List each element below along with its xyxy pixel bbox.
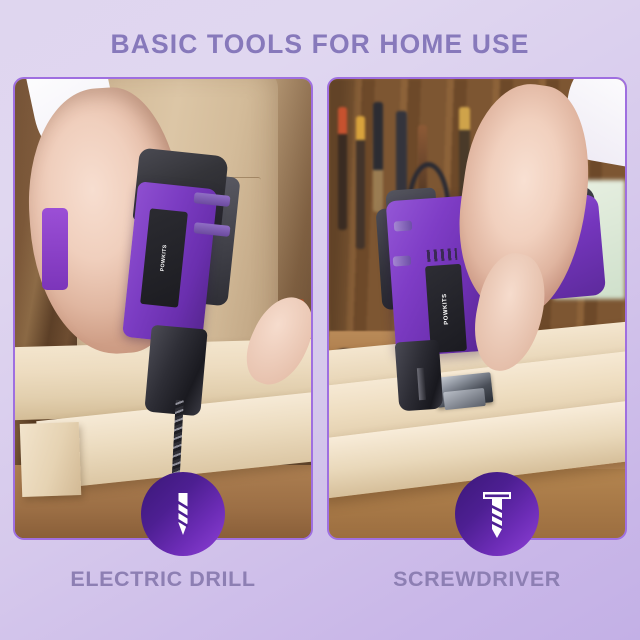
purple-wrist-cuff [42,208,69,291]
hanging-tool [373,102,383,212]
screw-icon [455,472,539,556]
pine-block [20,422,82,497]
poster-canvas: BASIC TOOLS FOR HOME USE POWKITS [0,0,640,640]
drill-vent-lower [392,255,410,266]
drill-vent-grill [426,248,456,262]
page-title: BASIC TOOLS FOR HOME USE [0,29,640,60]
photo-electric-drill: POWKITS [15,79,311,538]
product-panel-screwdriver[interactable]: POWKITS [327,77,627,540]
badge-electric-drill[interactable] [141,472,225,556]
badge-screwdriver[interactable] [455,472,539,556]
caption-electric-drill: ELECTRIC DRILL [13,567,313,592]
drill-vent-upper [394,221,412,232]
drill-bit-icon [141,472,225,556]
hanging-tool [356,116,365,249]
hanging-tool [338,107,347,231]
drill-brand-text: POWKITS [442,293,450,325]
drill-brand-text: POWKITS [160,244,169,271]
photo-screwdriver: POWKITS [329,79,625,538]
product-panel-electric-drill[interactable]: POWKITS [13,77,313,540]
caption-screwdriver: SCREWDRIVER [327,567,627,592]
